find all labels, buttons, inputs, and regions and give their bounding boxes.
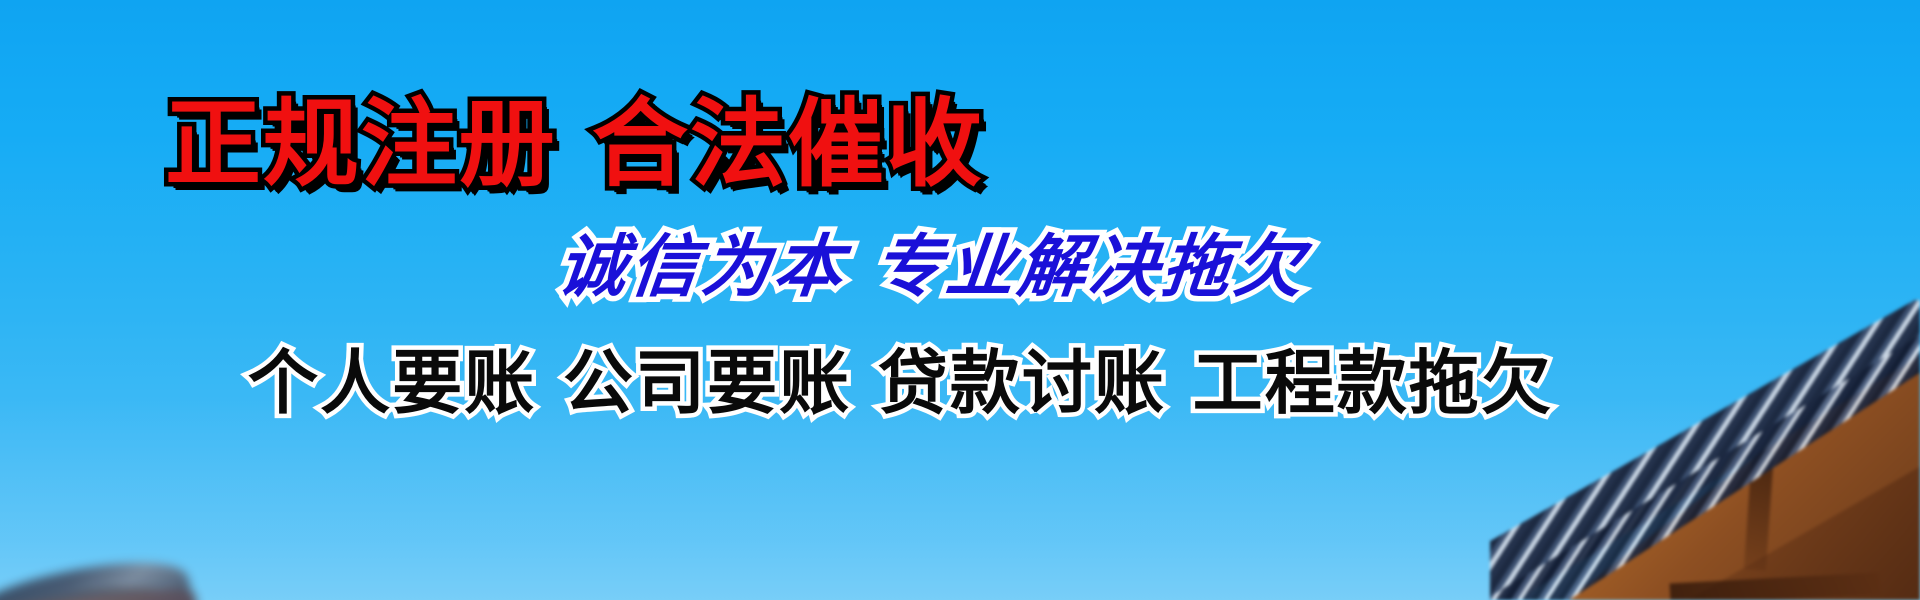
promotional-banner: 正规注册 合法催收 诚信为本 专业解决拖欠 个人要账 公司要账 贷款讨账 工程款… <box>0 0 1920 600</box>
banner-headline: 正规注册 合法催收 <box>165 96 984 192</box>
banner-tagline: 诚信为本 专业解决拖欠 <box>554 234 1310 302</box>
banner-text-content: 正规注册 合法催收 诚信为本 专业解决拖欠 个人要账 公司要账 贷款讨账 工程款… <box>0 0 1920 600</box>
banner-services-list: 个人要账 公司要账 贷款讨账 工程款拖欠 <box>248 348 1553 418</box>
